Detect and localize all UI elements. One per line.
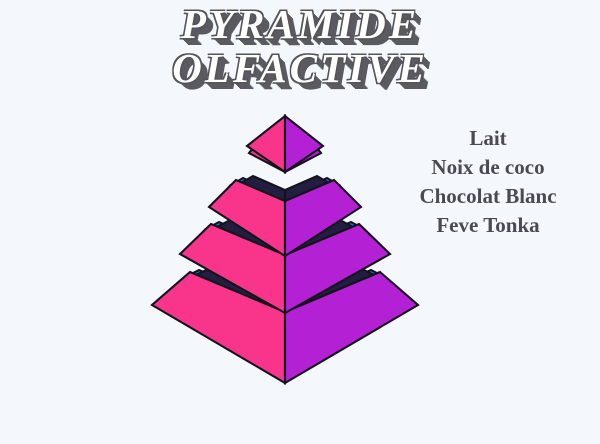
infographic-canvas: PYRAMIDE OLFACTIVE bbox=[0, 0, 600, 444]
tier-apex-diamond-right bbox=[285, 116, 323, 172]
olfactory-pyramid-graphic bbox=[0, 0, 600, 444]
tier-apex-diamond-left bbox=[247, 116, 285, 172]
pyramid-tier-apex bbox=[247, 116, 323, 172]
